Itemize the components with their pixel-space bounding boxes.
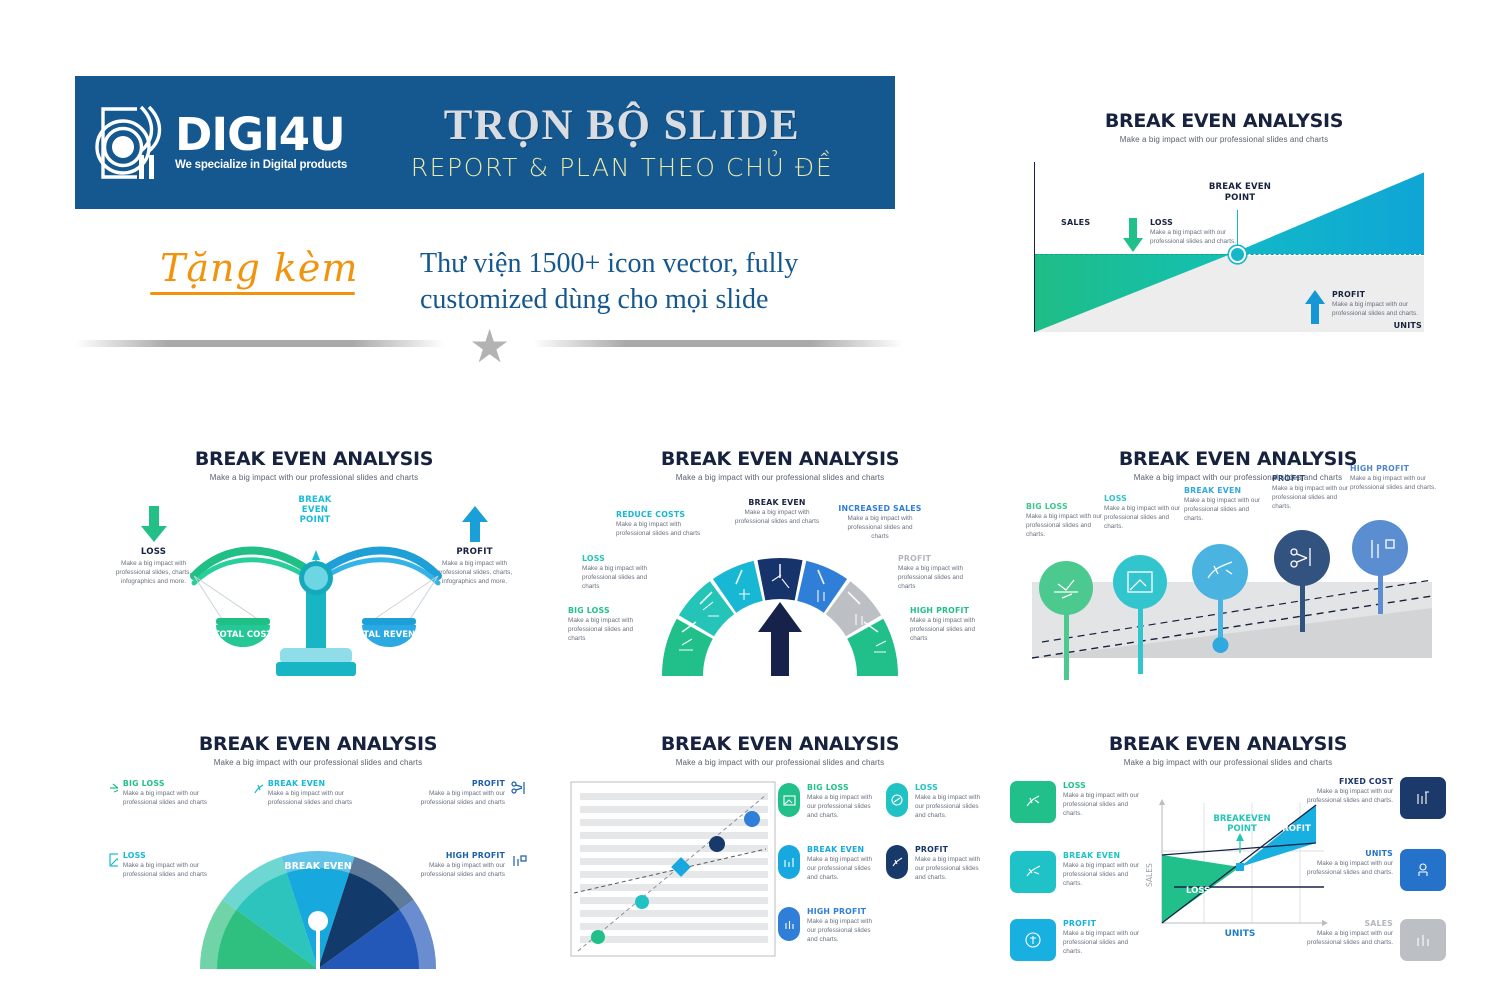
fixed-cost-icon [1400,777,1446,819]
svg-text:TOTAL COST: TOTAL COST [214,630,273,640]
brand-logo: DIGI4U We specialize in Digital products [75,76,365,209]
svg-text:POINT: POINT [1227,824,1257,834]
card-profit[interactable]: PROFIT Make a big impact with our profes… [1010,919,1146,961]
pin-label-high-profit: HIGH PROFIT Make a big impact with our p… [1350,464,1436,493]
label-text: SALES [1296,919,1393,928]
svg-text:TOTAL REVENUE: TOTAL REVENUE [350,630,428,640]
label-body: Make a big impact with professional slid… [582,565,660,591]
high-profit-icon [510,851,528,869]
break-even-icon [778,845,800,879]
label-body: Make a big impact with our professional … [1063,792,1146,818]
slide-a-plot: SALES UNITS BREAK EVEN POINT LOSS Make a… [1034,162,1424,332]
card-break-even[interactable]: BREAK EVEN Make a big impact with our pr… [778,845,878,882]
scale-bep-label: BREAK EVEN POINT [269,496,361,526]
bonus-description: Thư viện 1500+ icon vector, fully custom… [420,246,890,318]
arc-label-increased-sales: INCREASED SALES Make a big impact with p… [838,504,922,541]
bonus-badge-text: Tặng kèm [160,246,358,290]
svg-text:PROFIT: PROFIT [1276,824,1311,834]
svg-text:BREAK EVEN: BREAK EVEN [284,861,351,872]
slide-g-subtitle: Make a big impact with our professional … [1004,758,1452,767]
banner-text-block: TRỌN BỘ SLIDE REPORT & PLAN THEO CHỦ ĐỀ [365,103,895,181]
label-body: Make a big impact with our professional … [1296,788,1393,806]
profit-icon [510,779,528,797]
arc-segment-chart [655,558,905,676]
label-text: BREAK EVEN [807,845,878,854]
scatter-point-4 [709,836,725,852]
banner-title: TRỌN BỘ SLIDE [365,103,879,148]
divider-bar-right [533,340,903,347]
slide-break-even-line-cards[interactable]: BREAK EVEN ANALYSIS Make a big impact wi… [1004,733,1452,977]
label-body: Make a big impact with our professional … [1063,930,1146,956]
scatter-point-5 [744,811,760,827]
bep-line1: BREAK EVEN [1209,182,1271,192]
pin-big-loss[interactable] [1032,552,1102,680]
break-even-marker [1236,863,1244,871]
gauge-callout-big-loss: BIG LOSS Make a big impact with our prof… [108,779,212,808]
label-text: LOSS [1063,781,1146,790]
slide-break-even-arc[interactable]: BREAK EVEN ANALYSIS Make a big impact wi… [566,448,994,680]
profit-body: Make a big impact with our professional … [1332,301,1424,319]
slide-c-subtitle: Make a big impact with our professional … [566,473,994,482]
loss-icon [108,851,118,869]
slide-break-even-pins[interactable]: BREAK EVEN ANALYSIS Make a big impact wi… [1024,448,1452,680]
label-body: Make a big impact with professional slid… [910,617,992,643]
section-divider: ★ [75,328,903,362]
card-loss[interactable]: LOSS Make a big impact with our professi… [1010,781,1146,823]
bep-line3: POINT [269,516,361,526]
arc-label-big-loss: BIG LOSS Make a big impact with professi… [568,606,646,643]
label-text: FIXED COST [1296,777,1393,786]
label-body: Make a big impact with professional slid… [616,521,708,539]
slide-break-even-scale[interactable]: BREAK EVEN ANALYSIS Make a big impact wi… [104,448,524,680]
scatter-point-1 [591,930,605,944]
slide-a-subtitle: Make a big impact with our professional … [1014,135,1434,144]
label-body: Make a big impact with our professional … [416,790,505,808]
pin-profit[interactable] [1268,524,1338,652]
loss-icon [886,783,908,817]
label-body: Make a big impact with our professional … [1350,475,1436,493]
label-body: Make a big impact with our professional … [1272,485,1352,511]
label-text: BIG LOSS [568,606,646,615]
loss-area [1035,254,1231,332]
arc-label-reduce-costs: REDUCE COSTS Make a big impact with prof… [616,510,708,539]
label-body: Make a big impact with our professional … [915,794,986,820]
label-text: LOSS [915,783,986,792]
slide-break-even-gauge[interactable]: BREAK EVEN ANALYSIS Make a big impact wi… [104,733,532,977]
label-body: Make a big impact with professional slid… [838,515,922,541]
pin-loss[interactable] [1106,546,1176,674]
break-even-icon [1010,851,1056,893]
label-text: INCREASED SALES [838,504,922,513]
arc-label-profit: PROFIT Make a big impact with profession… [898,554,982,591]
arrow-down-icon [1123,218,1143,252]
svg-text:LOSS: LOSS [1186,886,1210,896]
big-loss-icon [108,779,118,797]
card-break-even[interactable]: BREAK EVEN Make a big impact with our pr… [1010,851,1146,893]
label-text: BIG LOSS [1026,502,1106,511]
label-text: HIGH PROFIT [807,907,878,916]
label-text: BREAK EVEN [268,779,366,788]
profit-label: PROFIT [1332,290,1424,299]
profit-callout: PROFIT Make a big impact with our profes… [1305,290,1424,324]
pin-break-even[interactable] [1186,536,1256,664]
svg-text:UNITS: UNITS [1225,929,1256,939]
label-text: PROFIT [1063,919,1146,928]
slide-e-subtitle: Make a big impact with our professional … [104,758,532,767]
label-text: HIGH PROFIT [910,606,992,615]
label-body: Make a big impact with our professional … [1026,513,1106,539]
slide-b-subtitle: Make a big impact with our professional … [104,473,524,482]
label-text: BIG LOSS [807,783,878,792]
banner-subtitle: REPORT & PLAN THEO CHỦ ĐỀ [365,153,879,182]
slide-c-title: BREAK EVEN ANALYSIS [566,448,994,470]
loss-label: LOSS [1150,218,1243,227]
loss-body: Make a big impact with our professional … [1150,229,1243,247]
slide-break-even-scatter[interactable]: BREAK EVEN ANALYSIS Make a big impact wi… [566,733,994,977]
label-text: REDUCE COSTS [616,510,708,519]
slide-break-even-area[interactable]: BREAK EVEN ANALYSIS Make a big impact wi… [1014,110,1434,340]
label-text: BREAK EVEN [1063,851,1146,860]
arc-label-high-profit: HIGH PROFIT Make a big impact with profe… [910,606,992,643]
slide-f-subtitle: Make a big impact with our professional … [566,758,994,767]
scatter-plot [570,781,776,957]
label-body: Make a big impact with our professional … [268,790,366,808]
break-even-icon [252,779,263,797]
gauge-callout-break-even: BREAK EVEN Make a big impact with our pr… [252,779,366,808]
pin-label-loss: LOSS Make a big impact with our professi… [1104,494,1182,531]
logo-wordmark: DIGI4U [175,114,347,157]
sales-icon [1400,919,1446,961]
y-axis-label: SALES [1061,218,1090,227]
label-text: PROFIT [416,779,505,788]
card-units[interactable]: UNITS Make a big impact with our profess… [1296,849,1446,891]
label-text: BIG LOSS [123,779,212,788]
slide-deck-preview: DIGI4U We specialize in Digital products… [0,0,1500,1000]
label-text: BREAK EVEN [734,498,820,507]
card-big-loss[interactable]: BIG LOSS Make a big impact with our prof… [778,783,878,820]
digi4u-logo-icon [93,99,171,187]
label-body: Make a big impact with our professional … [915,856,986,882]
label-text: PROFIT [1272,474,1352,483]
units-icon [1400,849,1446,891]
slide-e-title: BREAK EVEN ANALYSIS [104,733,532,755]
slide-f-title: BREAK EVEN ANALYSIS [566,733,994,755]
label-text: UNITS [1296,849,1393,858]
big-loss-icon [778,783,800,817]
label-body: Make a big impact with our professional … [807,794,878,820]
profit-icon [886,845,908,879]
profit-icon [1010,919,1056,961]
slide-b-title: BREAK EVEN ANALYSIS [104,448,524,470]
label-body: Make a big impact with our professional … [1296,930,1393,948]
label-body: Make a big impact with our professional … [1063,862,1146,888]
pin-label-break-even: BREAK EVEN Make a big impact with our pr… [1184,486,1268,523]
bep-line2: POINT [1225,193,1256,203]
label-body: Make a big impact with our professional … [1104,505,1182,531]
card-loss[interactable]: LOSS Make a big impact with our professi… [886,783,986,820]
card-high-profit[interactable]: HIGH PROFIT Make a big impact with our p… [778,907,878,944]
loss-icon [1010,781,1056,823]
high-profit-icon [778,907,800,941]
card-profit[interactable]: PROFIT Make a big impact with our profes… [886,845,986,882]
arc-label-loss: LOSS Make a big impact with professional… [582,554,660,591]
svg-text:SALES: SALES [1145,863,1154,887]
label-text: BREAK EVEN [1184,486,1268,495]
label-text: LOSS [582,554,660,563]
pin-label-big-loss: BIG LOSS Make a big impact with our prof… [1026,502,1106,539]
gauge-callout-profit: PROFIT Make a big impact with our profes… [416,779,528,808]
divider-bar-left [75,340,445,347]
arc-label-break-even: BREAK EVEN Make a big impact with profes… [734,498,820,527]
card-fixed-cost[interactable]: FIXED COST Make a big impact with our pr… [1296,777,1446,819]
label-body: Make a big impact with our professional … [807,856,878,882]
arrow-up-icon [1305,290,1325,324]
label-text: LOSS [1104,494,1182,503]
gauge-chart: BIG LOSS LOSS BREAK EVEN PROFIT HIGH PRO… [190,849,446,971]
break-even-point-label: BREAK EVEN POINT [1195,182,1285,203]
logo-tagline: We specialize in Digital products [175,159,347,171]
slide-a-title: BREAK EVEN ANALYSIS [1014,110,1434,132]
star-icon: ★ [469,328,509,366]
loss-callout: LOSS Make a big impact with our professi… [1123,218,1243,252]
arc-center-arrow-icon [758,602,802,676]
label-body: Make a big impact with professional slid… [734,509,820,527]
card-sales[interactable]: SALES Make a big impact with our profess… [1296,919,1446,961]
label-body: Make a big impact with professional slid… [898,565,982,591]
scatter-point-2 [635,895,649,909]
label-text: HIGH PROFIT [1350,464,1436,473]
label-body: Make a big impact with professional slid… [568,617,646,643]
balance-scale-graphic: TOTAL COST TOTAL REVENUE [166,536,466,676]
pin-high-profit[interactable] [1346,514,1416,642]
label-text: PROFIT [898,554,982,563]
label-body: Make a big impact with our professional … [1184,497,1268,523]
label-body: Make a big impact with our professional … [1296,860,1393,878]
label-body: Make a big impact with our professional … [807,918,878,944]
slide-g-title: BREAK EVEN ANALYSIS [1004,733,1452,755]
label-body: Make a big impact with our professional … [123,790,212,808]
svg-text:BREAKEVEN: BREAKEVEN [1213,814,1270,824]
bonus-badge-underline [150,292,355,295]
label-text: PROFIT [915,845,986,854]
pin-label-profit: PROFIT Make a big impact with our profes… [1272,474,1352,511]
header-banner: DIGI4U We specialize in Digital products… [75,76,895,209]
